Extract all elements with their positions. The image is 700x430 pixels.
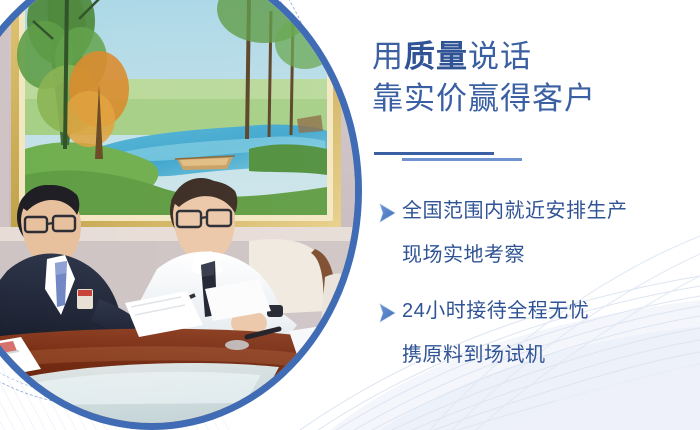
photo-container (0, 0, 362, 430)
headline-suffix: 说话 (468, 39, 532, 74)
divider-line-dark (374, 152, 494, 155)
divider-line-light (402, 158, 522, 161)
bullet-row: 24小时接待全程无忧 (372, 296, 700, 328)
headline-prefix: 用 (372, 39, 404, 74)
bullet-main-text: 全国范围内就近安排生产 (402, 196, 628, 226)
content-column: 用质量说话 靠实价赢得客户 (372, 0, 700, 430)
divider (374, 152, 544, 164)
bullet-sub-text: 携原料到场试机 (402, 340, 700, 370)
headline: 用质量说话 靠实价赢得客户 (372, 36, 596, 120)
bullet-main-text: 24小时接待全程无忧 (402, 296, 589, 326)
list-item: 24小时接待全程无忧 携原料到场试机 (372, 296, 700, 370)
photo-illustration (0, 0, 355, 423)
headline-emphasis: 质量 (404, 39, 468, 74)
bullet-row: 全国范围内就近安排生产 (372, 196, 700, 228)
bullet-list: 全国范围内就近安排生产 现场实地考察 (372, 196, 700, 396)
promo-banner: 用质量说话 靠实价赢得客户 (0, 0, 700, 430)
bullet-sub-text: 现场实地考察 (402, 240, 700, 270)
headline-line-2: 靠实价赢得客户 (372, 78, 596, 120)
play-arrow-icon (372, 298, 402, 328)
list-item: 全国范围内就近安排生产 现场实地考察 (372, 196, 700, 270)
headline-line-1: 用质量说话 (372, 36, 596, 78)
play-arrow-icon (372, 198, 402, 228)
business-meeting-photo (0, 0, 355, 423)
